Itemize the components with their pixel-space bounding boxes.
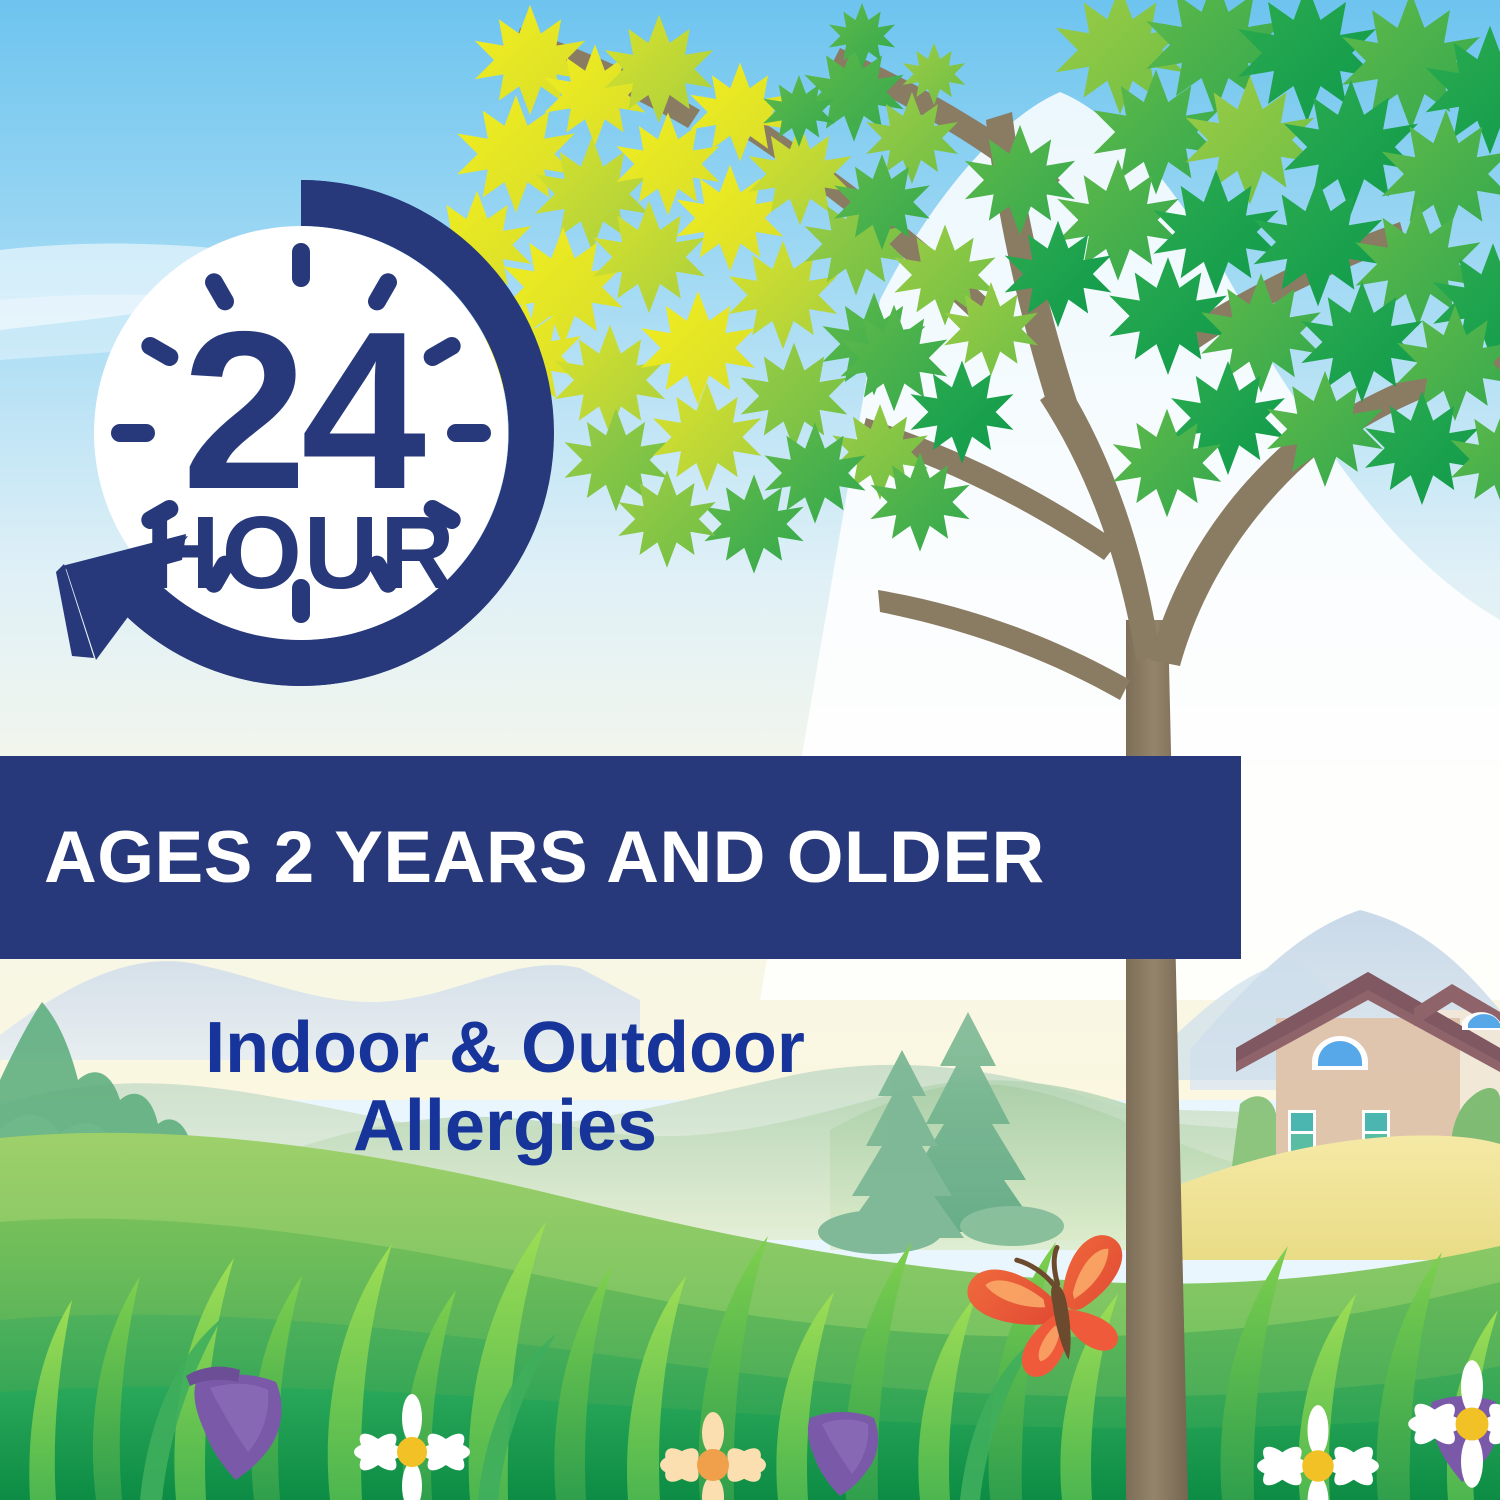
badge-unit: HOUR [145,495,456,610]
age-banner: AGES 2 YEARS AND OLDER [0,756,1241,959]
age-banner-text: AGES 2 YEARS AND OLDER [0,816,1045,899]
daisy-center [397,1437,427,1467]
subtitle-line-1: Indoor & Outdoor [205,1008,805,1088]
allergy-product-poster: 24 HOUR AGES 2 YEARS AND OLDER Indoor & … [0,0,1500,1500]
clock-refresh-icon: 24 HOUR [36,168,566,728]
flower-white-daisy-2 [1257,1405,1379,1500]
cream-daisy-center [697,1449,729,1481]
flower-cream-daisy-1 [659,1412,766,1500]
butterfly [961,1231,1144,1387]
flower-white-daisy-1 [354,1394,470,1500]
subtitle-block: Indoor & Outdoor Allergies [0,1010,1010,1166]
twenty-four-hour-badge: 24 HOUR [36,168,566,728]
subtitle-line-2: Allergies [0,1088,1010,1166]
